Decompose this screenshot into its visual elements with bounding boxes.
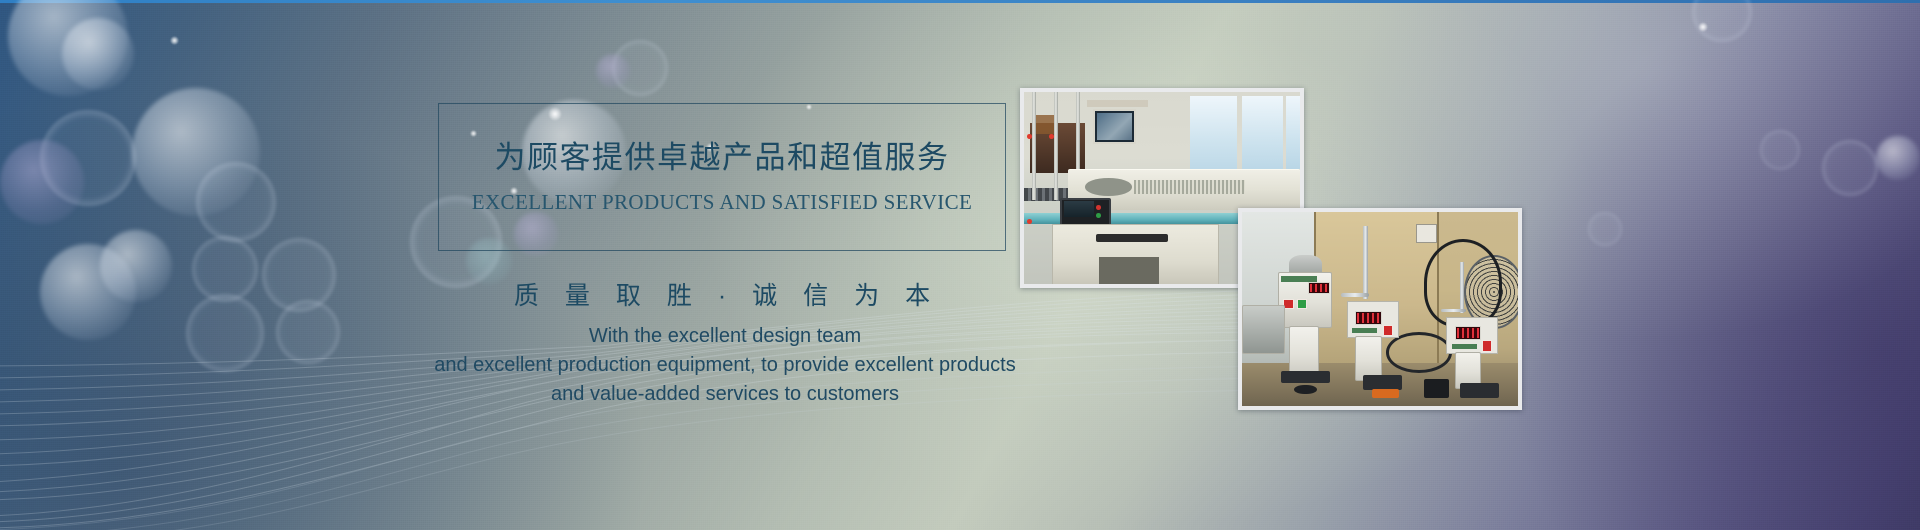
bokeh-circle	[1760, 130, 1800, 170]
bokeh-circle	[62, 18, 134, 90]
sparkle-dot	[1698, 22, 1708, 32]
bokeh-circle	[132, 88, 260, 216]
bokeh-circle	[596, 54, 630, 88]
bokeh-circle	[8, 0, 128, 96]
hero-banner: 为顾客提供卓越产品和超值服务 EXCELLENT PRODUCTS AND SA…	[0, 0, 1920, 530]
bokeh-circle	[612, 40, 668, 96]
bokeh-circle	[1692, 0, 1752, 42]
paragraph-line-3: and value-added services to customers	[330, 380, 1120, 409]
subheadline-english: EXCELLENT PRODUCTS AND SATISFIED SERVICE	[438, 190, 1006, 215]
photo-1-monitor	[1093, 109, 1136, 144]
headline-frame-border	[438, 103, 1006, 251]
sparkle-dot	[170, 36, 179, 45]
top-accent-rule	[0, 0, 1920, 3]
paragraph-line-1: With the excellent design team	[330, 322, 1120, 351]
bokeh-circle	[1876, 136, 1920, 180]
bokeh-circle	[1822, 140, 1878, 196]
bokeh-circle	[0, 140, 84, 224]
headline-chinese: 为顾客提供卓越产品和超值服务	[438, 132, 1006, 177]
bokeh-circle	[196, 162, 276, 242]
bokeh-circle	[1588, 212, 1622, 246]
bokeh-circle	[186, 294, 264, 372]
paragraph-line-2: and excellent production equipment, to p…	[330, 351, 1120, 380]
background-glow	[0, 0, 1920, 530]
bokeh-circle	[192, 236, 258, 302]
background-gradient	[0, 0, 1920, 530]
photo-riveting-press-machines	[1238, 208, 1522, 410]
description-paragraph: With the excellent design team and excel…	[330, 322, 1120, 409]
slogan-chinese: 质量取胜·诚信为本	[438, 276, 1006, 312]
bokeh-circle	[100, 230, 172, 302]
background-noise-texture	[0, 0, 1920, 530]
photo-2-content	[1242, 212, 1518, 406]
bokeh-circle	[40, 110, 136, 206]
bokeh-circle	[262, 238, 336, 312]
bokeh-circle	[40, 244, 136, 340]
